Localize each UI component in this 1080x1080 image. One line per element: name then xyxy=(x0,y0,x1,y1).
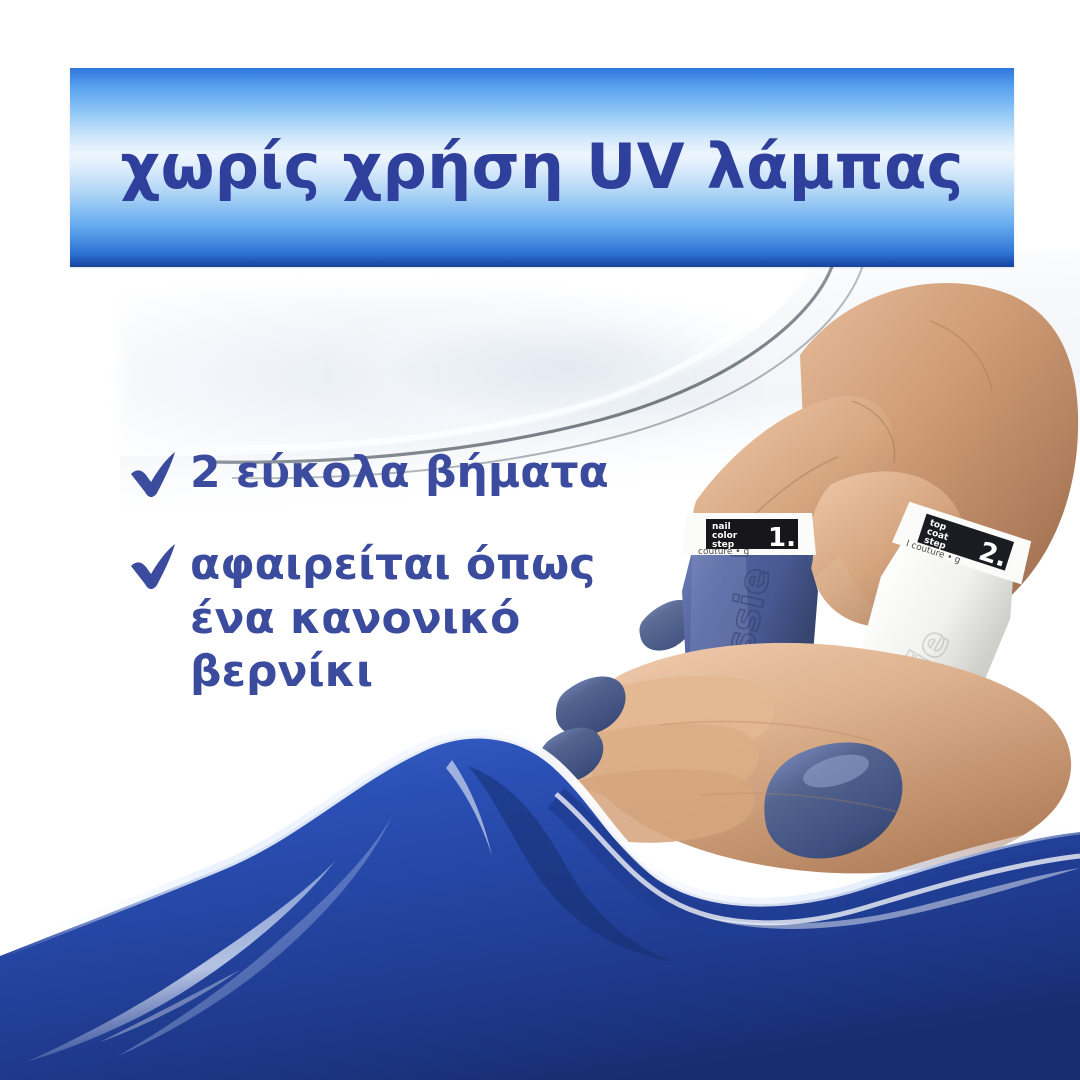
label-step1-line3: step xyxy=(712,540,735,550)
label-step1-number: 1. xyxy=(768,523,796,553)
bottle-blue-step1: essie nail color step 1. couture • g xyxy=(682,513,818,786)
list-item-label: 2 εύκολα βήματα xyxy=(190,446,609,500)
headline-banner: χωρίς χρήση UV λάμπας xyxy=(70,68,1014,267)
label-step2: top coat step 2. l couture • g xyxy=(891,500,1035,586)
essie-emboss-blue: essie xyxy=(711,563,780,686)
label-step1-sub: couture • g xyxy=(698,547,749,557)
label-step2-line3: step xyxy=(923,535,948,552)
benefits-list: 2 εύκολα βήματα αφαιρείται όπως ένα κανο… xyxy=(128,446,688,737)
label-step2-line1: top xyxy=(928,518,948,533)
label-step1: nail color step 1. couture • g xyxy=(682,513,816,557)
label-step2-line2: coat xyxy=(925,527,950,543)
list-item-label: αφαιρείται όπως ένα κανονικό βερνίκι xyxy=(190,538,688,699)
check-icon xyxy=(128,540,180,592)
label-step2-number: 2. xyxy=(975,537,1011,574)
essie-emboss-white: essie xyxy=(862,621,960,744)
nail-polish-lower-main xyxy=(764,743,902,859)
bottle-white-step2: essie top coat step 2. l couture • g xyxy=(818,500,1035,811)
list-item: αφαιρείται όπως ένα κανονικό βερνίκι xyxy=(128,538,688,699)
label-step1-line2: color xyxy=(712,531,738,541)
nail-polish-upper xyxy=(710,522,813,622)
label-step2-sub: l couture • g xyxy=(905,539,962,566)
background-sheen-right xyxy=(330,300,760,440)
headline-text: χωρίς χρήση UV λάμπας xyxy=(70,130,1014,203)
label-step1-line1: nail xyxy=(712,522,731,532)
poster-canvas: χωρίς χρήση UV λάμπας xyxy=(0,0,1080,1080)
check-icon xyxy=(128,448,180,500)
blue-polish-wave xyxy=(0,720,1080,1080)
list-item: 2 εύκολα βήματα xyxy=(128,446,688,500)
